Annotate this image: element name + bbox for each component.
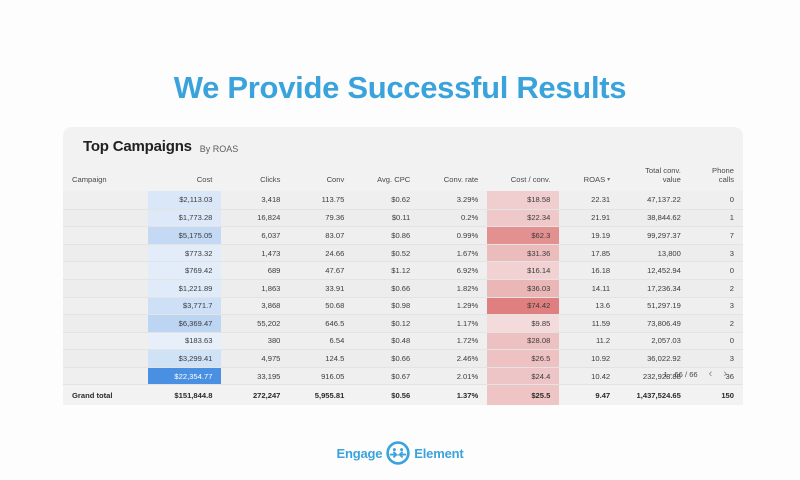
chevron-right-icon[interactable]: ›	[723, 369, 727, 380]
cell-clicks: 3,418	[221, 191, 289, 209]
cell-cost: $769.42	[148, 262, 221, 280]
total-cell-roas: 9.47	[559, 385, 619, 405]
chevron-left-icon[interactable]: ‹	[709, 369, 713, 380]
cell-roas: 11.59	[559, 315, 619, 333]
cell-clicks: 33,195	[221, 367, 289, 385]
cell-phone_calls: 2	[690, 279, 743, 297]
cell-phone_calls: 0	[690, 262, 743, 280]
cell-total_conv_value: 99,297.37	[619, 227, 690, 245]
cell-conv: 24.66	[289, 244, 353, 262]
cell-conv: 50.68	[289, 297, 353, 315]
cell-conv_rate: 2.01%	[419, 367, 487, 385]
cell-campaign	[63, 350, 148, 368]
cell-clicks: 1,473	[221, 244, 289, 262]
cell-conv_rate: 1.17%	[419, 315, 487, 333]
cell-roas: 22.31	[559, 191, 619, 209]
cell-total_conv_value: 17,236.34	[619, 279, 690, 297]
logo-word-engage: Engage	[337, 446, 383, 461]
cell-conv_rate: 1.82%	[419, 279, 487, 297]
cell-campaign	[63, 279, 148, 297]
cell-cost_per_conv: $16.14	[487, 262, 559, 280]
card-header: Top Campaigns By ROAS	[83, 138, 238, 155]
column-header-label: Clicks	[260, 175, 280, 184]
cell-conv: 6.54	[289, 332, 353, 350]
cell-clicks: 55,202	[221, 315, 289, 333]
total-cell-avg_cpc: $0.56	[353, 385, 419, 405]
column-header-campaign[interactable]: Campaign	[63, 163, 148, 191]
cell-avg_cpc: $1.12	[353, 262, 419, 280]
column-header-label: Cost	[197, 175, 213, 184]
cell-cost_per_conv: $28.08	[487, 332, 559, 350]
cell-cost: $3,299.41	[148, 350, 221, 368]
table-row[interactable]: $3,299.414,975124.5$0.662.46%$26.510.923…	[63, 350, 743, 368]
cell-roas: 21.91	[559, 209, 619, 227]
cell-cost_per_conv: $31.36	[487, 244, 559, 262]
column-header-cost_per_conv[interactable]: Cost / conv.	[487, 163, 559, 191]
total-cell-campaign: Grand total	[63, 385, 148, 405]
cell-total_conv_value: 73,806.49	[619, 315, 690, 333]
cell-conv_rate: 2.46%	[419, 350, 487, 368]
cell-phone_calls: 7	[690, 227, 743, 245]
cell-phone_calls: 0	[690, 332, 743, 350]
cell-clicks: 4,975	[221, 350, 289, 368]
cell-cost_per_conv: $9.85	[487, 315, 559, 333]
cell-total_conv_value: 2,057.03	[619, 332, 690, 350]
cell-clicks: 3,868	[221, 297, 289, 315]
cell-total_conv_value: 38,844.62	[619, 209, 690, 227]
cell-cost: $3,771.7	[148, 297, 221, 315]
cell-total_conv_value: 47,137.22	[619, 191, 690, 209]
table-row[interactable]: $6,369.4755,202646.5$0.121.17%$9.8511.59…	[63, 315, 743, 333]
column-header-total_conv_value[interactable]: Total conv. value	[619, 163, 690, 191]
cell-phone_calls: 3	[690, 244, 743, 262]
column-header-label: ROAS	[584, 175, 606, 184]
table-row[interactable]: $3,771.73,86850.68$0.981.29%$74.4213.651…	[63, 297, 743, 315]
cell-cost: $22,354.77	[148, 367, 221, 385]
cell-conv: 646.5	[289, 315, 353, 333]
column-header-label: Cost / conv.	[511, 175, 551, 184]
cell-avg_cpc: $0.62	[353, 191, 419, 209]
cell-roas: 11.2	[559, 332, 619, 350]
cell-total_conv_value: 51,297.19	[619, 297, 690, 315]
cell-cost_per_conv: $26.5	[487, 350, 559, 368]
chevron-down-icon[interactable]: ▾	[607, 177, 610, 184]
cell-roas: 14.11	[559, 279, 619, 297]
cell-conv: 33.91	[289, 279, 353, 297]
cell-phone_calls: 3	[690, 297, 743, 315]
cell-roas: 13.6	[559, 297, 619, 315]
cell-phone_calls: 3	[690, 350, 743, 368]
engage-element-circle-icon	[386, 441, 410, 465]
grand-total-row: Grand total$151,844.8272,2475,955.81$0.5…	[63, 385, 743, 405]
cell-campaign	[63, 244, 148, 262]
cell-total_conv_value: 13,800	[619, 244, 690, 262]
cell-phone_calls: 1	[690, 209, 743, 227]
cell-avg_cpc: $0.48	[353, 332, 419, 350]
top-campaigns-card: Top Campaigns By ROAS CampaignCostClicks…	[63, 127, 743, 389]
total-cell-clicks: 272,247	[221, 385, 289, 405]
cell-phone_calls: 2	[690, 315, 743, 333]
cell-cost: $1,773.28	[148, 209, 221, 227]
table-row[interactable]: $183.633806.54$0.481.72%$28.0811.22,057.…	[63, 332, 743, 350]
cell-roas: 19.19	[559, 227, 619, 245]
cell-conv_rate: 1.29%	[419, 297, 487, 315]
total-cell-cost_per_conv: $25.5	[487, 385, 559, 405]
column-header-label: Total conv. value	[645, 166, 681, 184]
cell-conv_rate: 3.29%	[419, 191, 487, 209]
cell-conv: 47.67	[289, 262, 353, 280]
cell-cost: $773.32	[148, 244, 221, 262]
cell-conv_rate: 1.67%	[419, 244, 487, 262]
campaigns-table: CampaignCostClicksConvAvg. CPCConv. rate…	[63, 163, 743, 405]
column-header-cost[interactable]: Cost	[148, 163, 221, 191]
cell-cost_per_conv: $18.58	[487, 191, 559, 209]
pagination-range: 1 - 66 / 66	[663, 370, 697, 379]
cell-avg_cpc: $0.52	[353, 244, 419, 262]
cell-clicks: 1,863	[221, 279, 289, 297]
cell-campaign	[63, 367, 148, 385]
column-header-clicks[interactable]: Clicks	[221, 163, 289, 191]
cell-cost: $6,369.47	[148, 315, 221, 333]
card-title: Top Campaigns	[83, 138, 192, 155]
cell-cost_per_conv: $62.3	[487, 227, 559, 245]
table-row[interactable]: $2,113.033,418113.75$0.623.29%$18.5822.3…	[63, 191, 743, 209]
cell-avg_cpc: $0.86	[353, 227, 419, 245]
column-header-label: Conv. rate	[444, 175, 478, 184]
cell-conv: 124.5	[289, 350, 353, 368]
cell-campaign	[63, 262, 148, 280]
total-cell-total_conv_value: 1,437,524.65	[619, 385, 690, 405]
cell-conv: 79.36	[289, 209, 353, 227]
cell-clicks: 16,824	[221, 209, 289, 227]
column-header-conv[interactable]: Conv	[289, 163, 353, 191]
total-cell-phone_calls: 150	[690, 385, 743, 405]
cell-conv: 113.75	[289, 191, 353, 209]
column-header-avg_cpc[interactable]: Avg. CPC	[353, 163, 419, 191]
table-row[interactable]: $769.4268947.67$1.126.92%$16.1416.1812,4…	[63, 262, 743, 280]
cell-cost_per_conv: $74.42	[487, 297, 559, 315]
total-cell-cost: $151,844.8	[148, 385, 221, 405]
cell-cost_per_conv: $22.34	[487, 209, 559, 227]
total-cell-conv_rate: 1.37%	[419, 385, 487, 405]
cell-conv_rate: 1.72%	[419, 332, 487, 350]
cell-cost: $2,113.03	[148, 191, 221, 209]
table-row[interactable]: $1,773.2816,82479.36$0.110.2%$22.3421.91…	[63, 209, 743, 227]
cell-conv_rate: 0.99%	[419, 227, 487, 245]
cell-cost: $183.63	[148, 332, 221, 350]
table-row[interactable]: $5,175.056,03783.07$0.860.99%$62.319.199…	[63, 227, 743, 245]
page-title: We Provide Successful Results	[0, 70, 800, 106]
cell-total_conv_value: 36,022.92	[619, 350, 690, 368]
column-header-label: Avg. CPC	[377, 175, 410, 184]
column-header-phone_calls[interactable]: Phone calls	[690, 163, 743, 191]
cell-campaign	[63, 297, 148, 315]
table-body: $2,113.033,418113.75$0.623.29%$18.5822.3…	[63, 191, 743, 405]
cell-conv: 83.07	[289, 227, 353, 245]
table-header-row: CampaignCostClicksConvAvg. CPCConv. rate…	[63, 163, 743, 191]
cell-avg_cpc: $0.67	[353, 367, 419, 385]
total-cell-conv: 5,955.81	[289, 385, 353, 405]
column-header-label: Phone calls	[712, 166, 734, 184]
cell-campaign	[63, 332, 148, 350]
cell-campaign	[63, 191, 148, 209]
cell-conv_rate: 0.2%	[419, 209, 487, 227]
cell-cost_per_conv: $36.03	[487, 279, 559, 297]
column-header-roas[interactable]: ROAS▾	[559, 163, 619, 191]
cell-clicks: 6,037	[221, 227, 289, 245]
cell-campaign	[63, 227, 148, 245]
cell-avg_cpc: $0.66	[353, 350, 419, 368]
cell-phone_calls: 0	[690, 191, 743, 209]
footer-logo[interactable]: Engage Element	[0, 441, 800, 465]
cell-clicks: 689	[221, 262, 289, 280]
table-row[interactable]: $773.321,47324.66$0.521.67%$31.3617.8513…	[63, 244, 743, 262]
cell-roas: 10.92	[559, 350, 619, 368]
cell-roas: 10.42	[559, 367, 619, 385]
cell-conv_rate: 6.92%	[419, 262, 487, 280]
cell-campaign	[63, 315, 148, 333]
cell-total_conv_value: 12,452.94	[619, 262, 690, 280]
table-row[interactable]: $1,221.891,86333.91$0.661.82%$36.0314.11…	[63, 279, 743, 297]
cell-avg_cpc: $0.98	[353, 297, 419, 315]
cell-cost_per_conv: $24.4	[487, 367, 559, 385]
card-subtitle: By ROAS	[200, 144, 239, 155]
column-header-conv_rate[interactable]: Conv. rate	[419, 163, 487, 191]
cell-roas: 17.85	[559, 244, 619, 262]
cell-conv: 916.05	[289, 367, 353, 385]
logo-word-element: Element	[414, 446, 463, 461]
cell-cost: $5,175.05	[148, 227, 221, 245]
cell-clicks: 380	[221, 332, 289, 350]
cell-cost: $1,221.89	[148, 279, 221, 297]
cell-campaign	[63, 209, 148, 227]
column-header-label: Campaign	[72, 175, 107, 184]
cell-roas: 16.18	[559, 262, 619, 280]
cell-avg_cpc: $0.66	[353, 279, 419, 297]
table-row[interactable]: $22,354.7733,195916.05$0.672.01%$24.410.…	[63, 367, 743, 385]
cell-avg_cpc: $0.11	[353, 209, 419, 227]
pagination: 1 - 66 / 66 ‹ ›	[663, 369, 727, 380]
cell-avg_cpc: $0.12	[353, 315, 419, 333]
column-header-label: Conv	[327, 175, 345, 184]
